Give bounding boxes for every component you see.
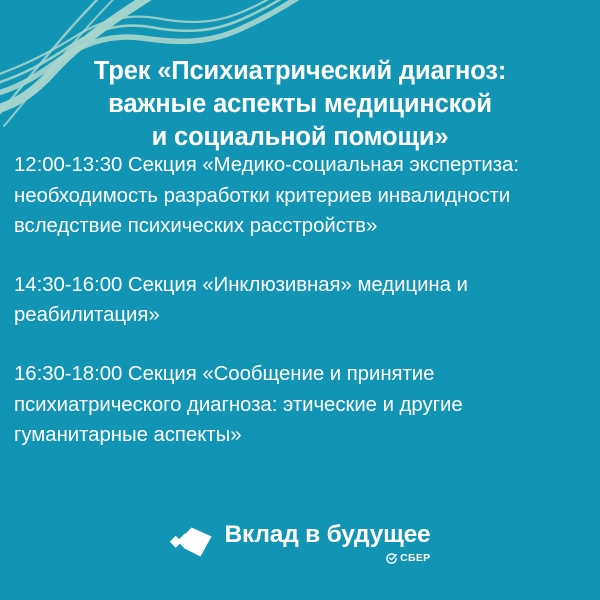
sber-label: СБЕР [400, 553, 430, 564]
session-2-line-1: 14:30-16:00 Секция «Инклюзивная» медицин… [14, 270, 586, 301]
logo-wordmark: Вклад в будущее [225, 522, 431, 548]
logo-text-column: Вклад в будущее СБЕР [225, 522, 431, 564]
session-3-line-2: психиатрического диагноза: этические и д… [14, 390, 586, 421]
logo-lockup: Вклад в будущее СБЕР [170, 522, 431, 564]
session-list: 12:00-13:30 Секция «Медико-социальная эк… [14, 150, 586, 451]
footer-brand-lockup: Вклад в будущее СБЕР [0, 522, 600, 564]
sber-circle-icon [386, 553, 397, 564]
session-1-line-3: вследствие психических расстройств» [14, 211, 586, 242]
session-item: 16:30-18:00 Секция «Сообщение и принятие… [14, 359, 586, 451]
session-3-line-3: гуманитарные аспекты» [14, 420, 586, 451]
chevron-diamond-logo-icon [170, 523, 214, 561]
sber-endorsement: СБЕР [386, 553, 430, 564]
session-1-line-2: необходимость разработки критериев инвал… [14, 181, 586, 212]
session-item: 14:30-16:00 Секция «Инклюзивная» медицин… [14, 270, 586, 331]
session-1-line-1: 12:00-13:30 Секция «Медико-социальная эк… [14, 150, 586, 181]
session-3-line-1: 16:30-18:00 Секция «Сообщение и принятие [14, 359, 586, 390]
title-line-1: Трек «Психиатрический диагноз: [40, 55, 560, 88]
poster-canvas: Трек «Психиатрический диагноз: важные ас… [0, 0, 600, 600]
session-item: 12:00-13:30 Секция «Медико-социальная эк… [14, 150, 586, 242]
session-2-line-2: реабилитация» [14, 300, 586, 331]
title-line-2: важные аспекты медицинской [40, 88, 560, 121]
poster-title: Трек «Психиатрический диагноз: важные ас… [0, 55, 600, 154]
